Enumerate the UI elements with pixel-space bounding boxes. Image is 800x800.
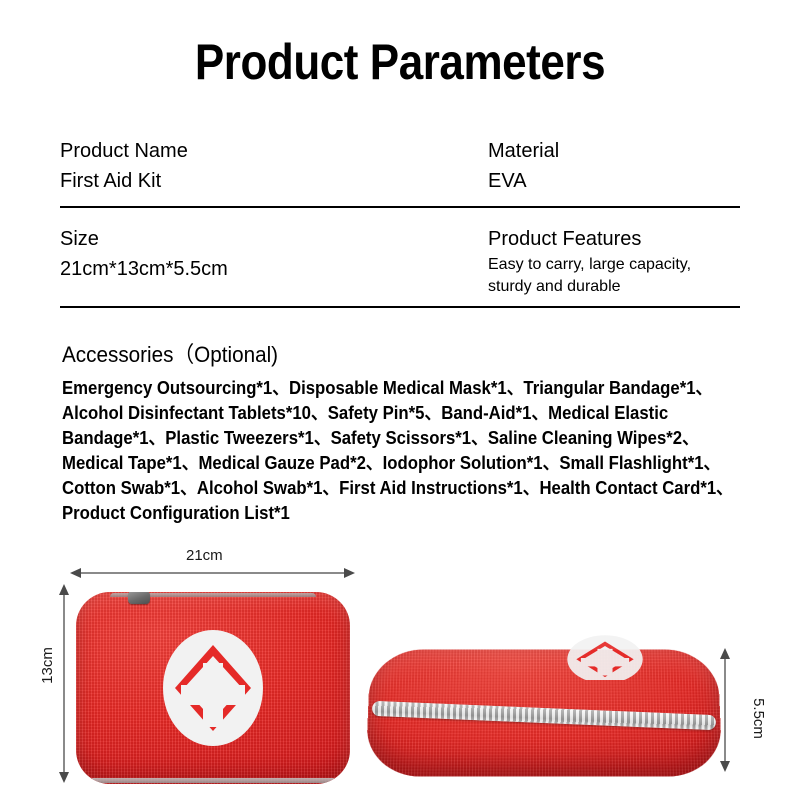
zipper-pull-icon	[128, 592, 150, 604]
first-aid-cross-icon	[159, 627, 267, 749]
accessories-line: Cotton Swab*1、Alcohol Swab*1、First Aid I…	[62, 476, 704, 501]
arrow-left-icon	[70, 568, 81, 578]
dimension-label-depth: 5.5cm	[750, 698, 767, 739]
spec-cell-size: Size 21cm*13cm*5.5cm	[60, 224, 488, 298]
accessories-line: Product Configuration List*1	[62, 501, 704, 526]
accessories-line: Alcohol Disinfectant Tablets*10、Safety P…	[62, 401, 704, 426]
dimension-label-height: 13cm	[39, 647, 56, 684]
accessories-list: Emergency Outsourcing*1、Disposable Medic…	[62, 376, 752, 526]
arrow-up-icon	[720, 648, 730, 659]
spec-row-product-name: Product Name First Aid Kit Material EVA	[60, 136, 740, 206]
product-figure: 21cm 13cm 5.5cm	[0, 530, 800, 800]
spec-value-size: 21cm*13cm*5.5cm	[60, 254, 488, 284]
dimension-line-width	[80, 572, 346, 574]
spec-divider-2	[60, 306, 740, 308]
dimension-line-height	[63, 594, 65, 774]
first-aid-cross-icon	[564, 634, 646, 680]
spec-table: Product Name First Aid Kit Material EVA …	[60, 136, 740, 308]
accessories-line: Bandage*1、Plastic Tweezers*1、Safety Scis…	[62, 426, 704, 451]
accessories-heading: Accessories（Optional)	[62, 340, 711, 370]
arrow-right-icon	[344, 568, 355, 578]
spec-value-product-name: First Aid Kit	[60, 166, 488, 196]
spec-value-material: EVA	[488, 166, 740, 196]
spec-cell-material: Material EVA	[488, 136, 740, 200]
accessories-line: Medical Tape*1、Medical Gauze Pad*2、Iodop…	[62, 451, 704, 476]
spec-row-size: Size 21cm*13cm*5.5cm Product Features Ea…	[60, 208, 740, 306]
accessories-line: Emergency Outsourcing*1、Disposable Medic…	[62, 376, 704, 401]
spec-label-product-name: Product Name	[60, 136, 488, 166]
spec-cell-product-name: Product Name First Aid Kit	[60, 136, 488, 200]
case-bottom-rim	[92, 778, 334, 783]
spec-value-product-features: Easy to carry, large capacity, sturdy an…	[488, 254, 733, 298]
spec-label-product-features: Product Features	[488, 224, 740, 254]
product-image-side-view	[368, 648, 720, 776]
arrow-up-icon	[59, 584, 69, 595]
dimension-label-width: 21cm	[186, 547, 223, 564]
spec-label-size: Size	[60, 224, 488, 254]
dimension-line-depth	[724, 658, 726, 763]
accessories-section: Accessories（Optional) Emergency Outsourc…	[62, 340, 752, 526]
spec-cell-product-features: Product Features Easy to carry, large ca…	[488, 224, 740, 298]
arrow-down-icon	[59, 772, 69, 783]
product-image-front-view	[76, 592, 350, 784]
arrow-down-icon	[720, 761, 730, 772]
spec-label-material: Material	[488, 136, 740, 166]
page-title: Product Parameters	[48, 34, 752, 90]
